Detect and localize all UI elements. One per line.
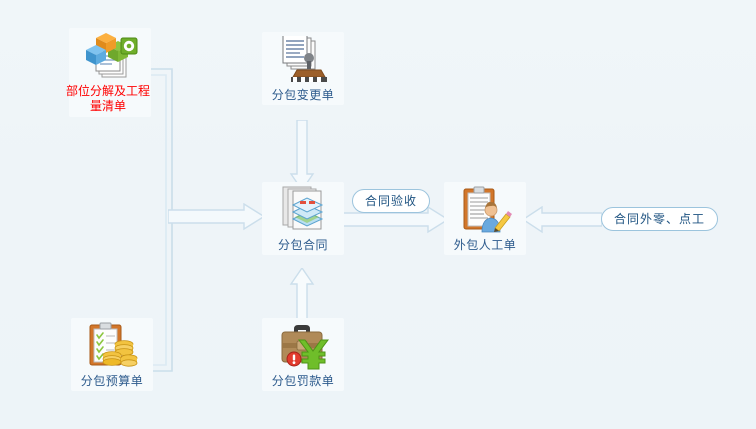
clipboard-person-icon: [457, 186, 513, 236]
blocks-gear-icon: [82, 32, 138, 82]
node-label: 分包变更单: [264, 88, 342, 102]
clipboard-coins-icon: [84, 322, 140, 372]
arrow-to-contract: [168, 203, 266, 231]
node-subcontract[interactable]: 分包合同: [262, 182, 344, 255]
node-outsourced-labor[interactable]: 外包人工单: [444, 182, 526, 255]
node-subcontract-penalty[interactable]: 分包罚款单: [262, 318, 344, 391]
briefcase-yen-icon: [275, 322, 331, 372]
edge-label-acceptance[interactable]: 合同验收: [352, 189, 430, 213]
edge-label-extra-work[interactable]: 合同外零、点工: [601, 207, 718, 231]
workflow-diagram-canvas: 合同验收 合同外零、点工: [0, 0, 756, 429]
node-label: 外包人工单: [446, 238, 524, 252]
node-label: 分包罚款单: [264, 374, 342, 388]
node-subcontract-change[interactable]: 分包变更单: [262, 32, 344, 105]
contract-stack-icon: [275, 186, 331, 236]
node-label: 部位分解及工程量清单: [66, 84, 150, 114]
node-label: 分包预算单: [73, 374, 151, 388]
node-boundary-breakdown[interactable]: 部位分解及工程量清单: [69, 28, 151, 117]
document-stamp-icon: [275, 36, 331, 86]
arrow-extrawork-to-labor: [522, 206, 602, 234]
node-subcontract-budget[interactable]: 分包预算单: [71, 318, 153, 391]
node-label: 分包合同: [264, 238, 342, 252]
